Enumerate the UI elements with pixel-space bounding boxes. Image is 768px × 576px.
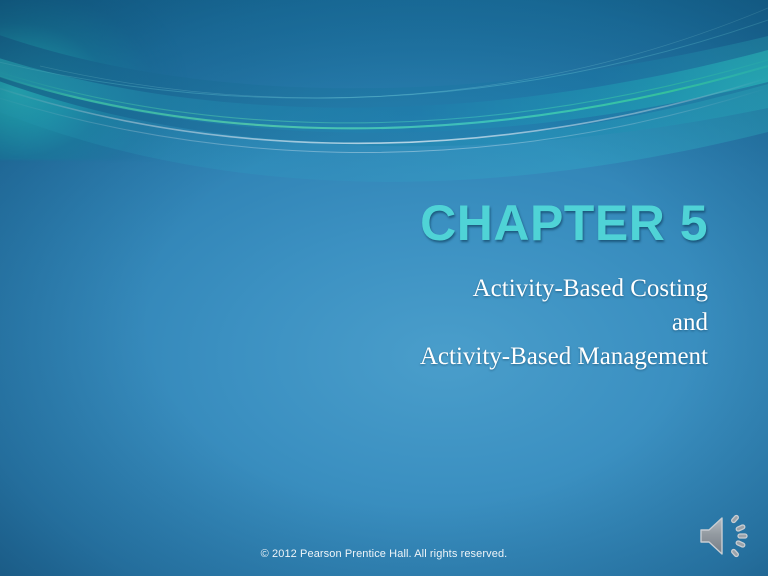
title-container: CHAPTER 5 bbox=[120, 196, 708, 250]
subtitle-line-3: Activity-Based Management bbox=[120, 340, 708, 374]
sound-dash-2 bbox=[736, 524, 746, 531]
sound-dash-5 bbox=[731, 549, 739, 558]
footer-container: © 2012 Pearson Prentice Hall. All rights… bbox=[0, 544, 768, 562]
sound-dash-3 bbox=[738, 534, 747, 538]
copyright-text: © 2012 Pearson Prentice Hall. All rights… bbox=[261, 548, 508, 560]
speaker-icon[interactable] bbox=[697, 512, 753, 560]
presentation-slide: CHAPTER 5 Activity-Based Costing and Act… bbox=[0, 0, 768, 576]
sound-dash-4 bbox=[736, 540, 746, 547]
sound-dash-1 bbox=[731, 515, 739, 524]
subtitle-line-2: and bbox=[120, 306, 708, 340]
subtitle-container: Activity-Based Costing and Activity-Base… bbox=[120, 272, 708, 374]
subtitle-line-1: Activity-Based Costing bbox=[120, 272, 708, 306]
page-title: CHAPTER 5 bbox=[120, 196, 708, 250]
speaker-cone bbox=[701, 518, 722, 554]
